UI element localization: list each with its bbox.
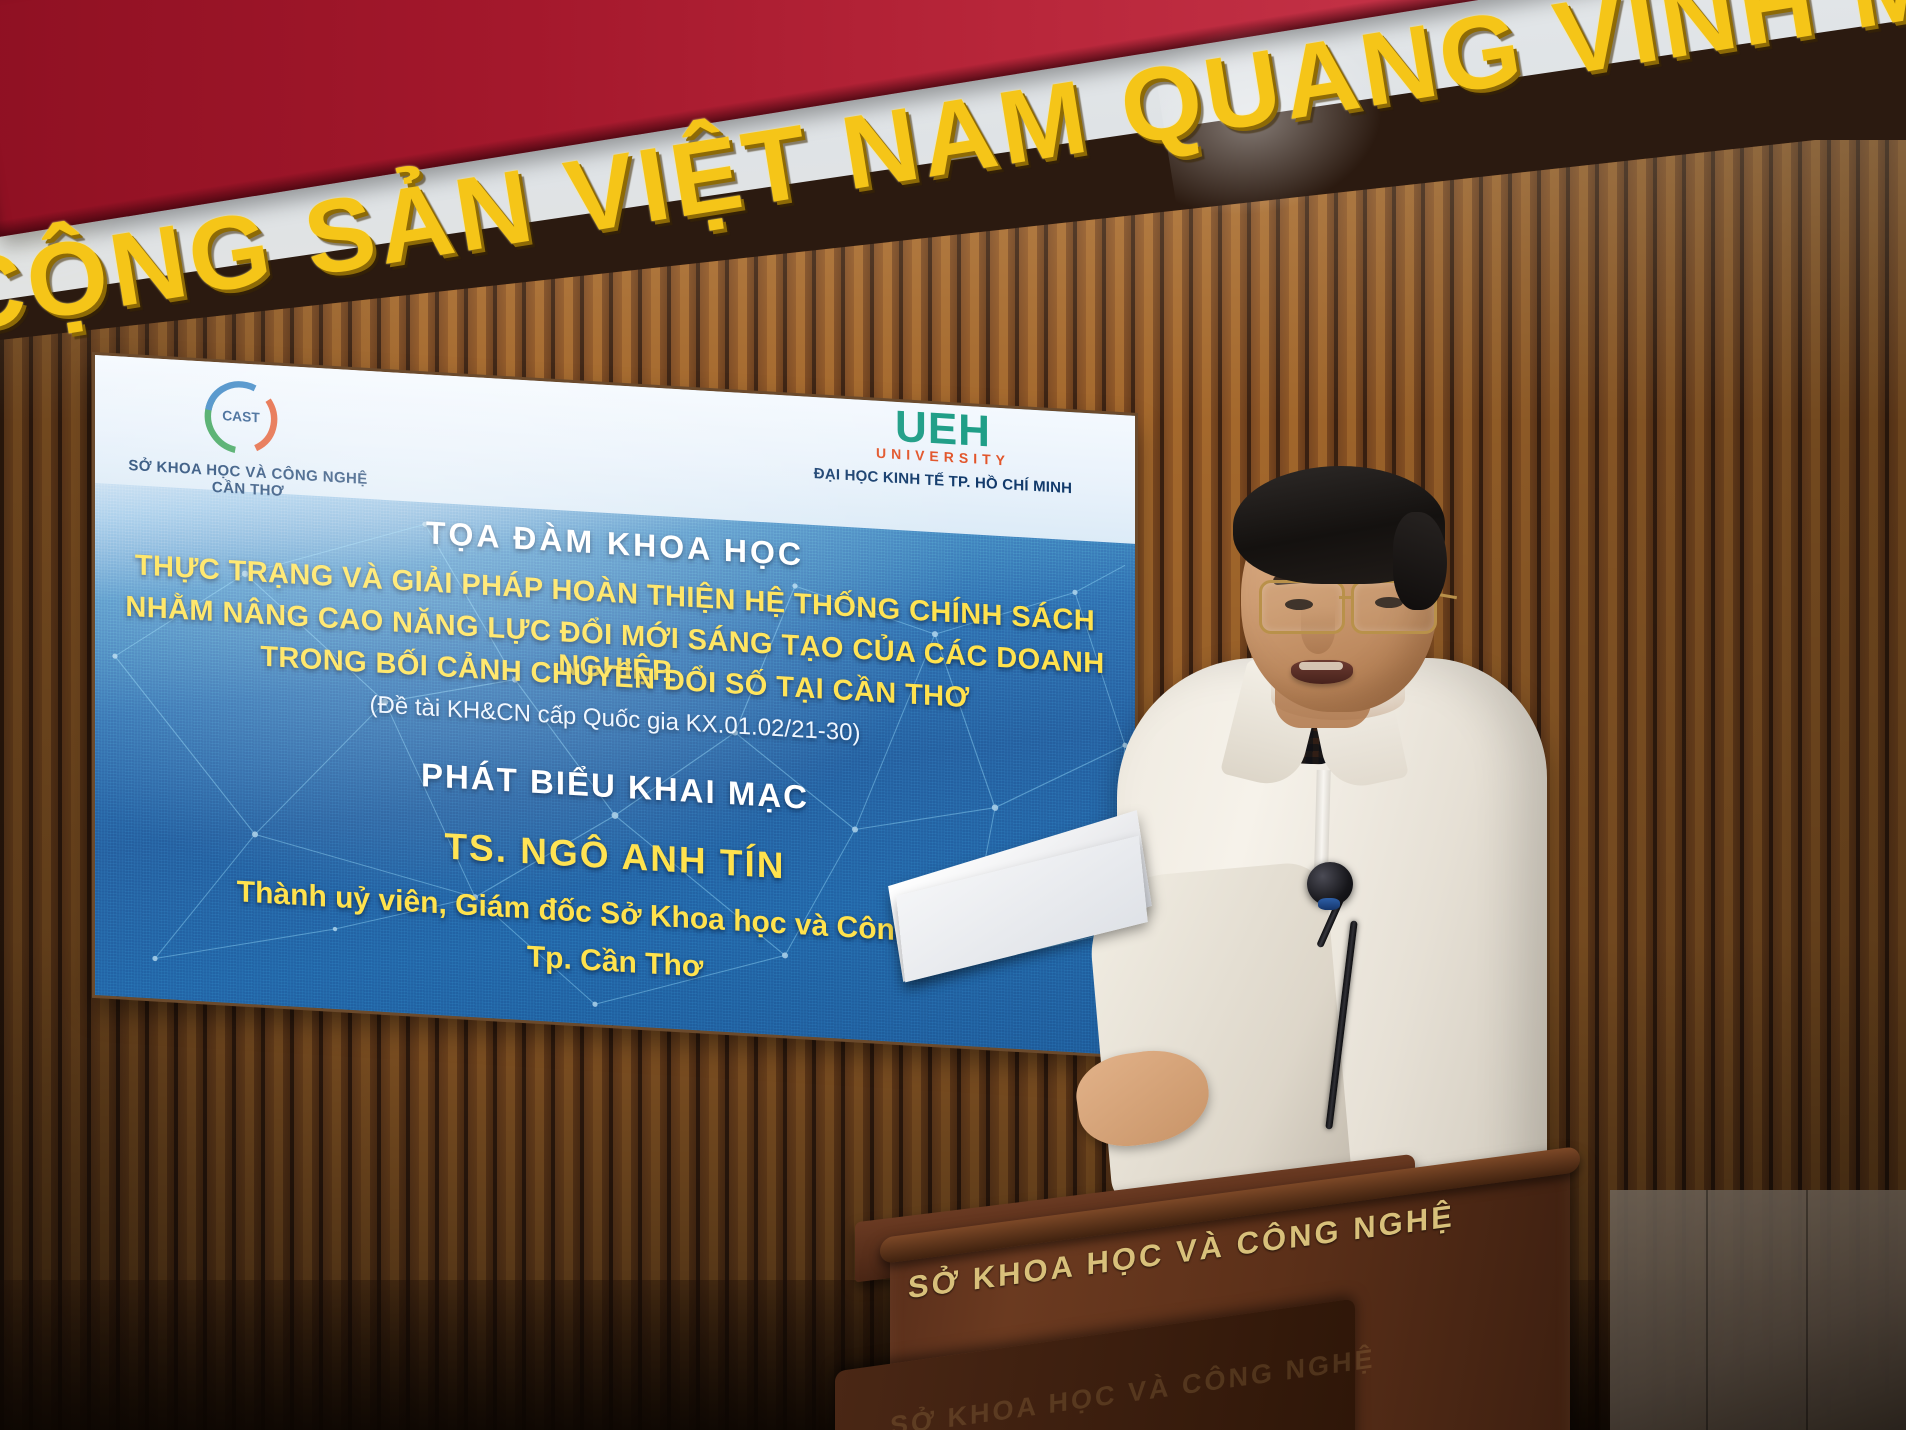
speaker-chin-shadow bbox=[1271, 676, 1405, 720]
podium: SỞ KHOA HỌC VÀ CÔNG NGHỆ SỞ KHOA HỌC VÀ … bbox=[880, 1140, 1700, 1430]
microphone-ring bbox=[1318, 898, 1340, 910]
eyeglass-bridge bbox=[1339, 596, 1353, 599]
speaker-teeth bbox=[1299, 662, 1343, 670]
speaker-hair-side bbox=[1393, 512, 1447, 610]
eyeglass-lens-left bbox=[1259, 580, 1345, 634]
svg-text:CAST: CAST bbox=[222, 407, 260, 425]
slide-body: TỌA ĐÀM KHOA HỌC THỰC TRẠNG VÀ GIẢI PHÁP… bbox=[95, 487, 1135, 1056]
ueh-logo: UEH UNIVERSITY ĐẠI HỌC KINH TẾ TP. HỒ CH… bbox=[793, 400, 1093, 498]
speaker-person bbox=[1105, 470, 1625, 1210]
cast-logo-icon: CAST bbox=[195, 369, 287, 466]
conference-photo-scene: CỘNG SẢN VIỆT NAM QUANG VINH MUÔN NĂM bbox=[0, 0, 1906, 1430]
